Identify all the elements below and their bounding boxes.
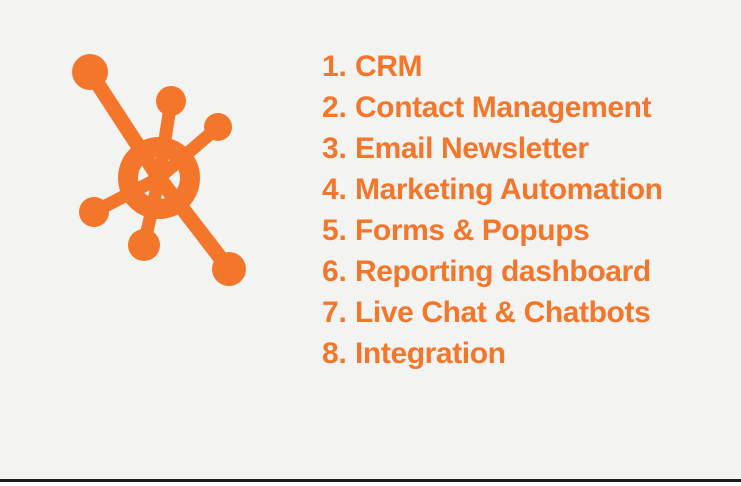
list-item-label: Marketing Automation: [355, 169, 663, 210]
list-item-number: 3.: [322, 128, 355, 169]
list-item-number: 1.: [322, 46, 355, 87]
list-item-label: Contact Management: [355, 87, 651, 128]
list-item: 8. Integration: [322, 333, 722, 374]
list-item-label: CRM: [355, 46, 422, 87]
node-bottom-right: [212, 252, 246, 286]
logo-area: [40, 30, 300, 300]
node-left: [79, 197, 109, 227]
list-item-label: Email Newsletter: [355, 128, 589, 169]
list-item-label: Live Chat & Chatbots: [355, 292, 650, 333]
node-right: [204, 113, 232, 141]
list-item-number: 6.: [322, 251, 355, 292]
hubspot-sprocket-icon: [40, 30, 300, 300]
list-item: 4. Marketing Automation: [322, 169, 722, 210]
list-item: 2. Contact Management: [322, 87, 722, 128]
list-item: 3. Email Newsletter: [322, 128, 722, 169]
slide-canvas: 1. CRM 2. Contact Management 3. Email Ne…: [0, 0, 741, 486]
bottom-white-edge: [0, 482, 741, 486]
list-item-number: 2.: [322, 87, 355, 128]
node-top: [156, 86, 186, 116]
list-item-number: 8.: [322, 333, 355, 374]
node-bottom: [128, 229, 160, 261]
list-item-label: Integration: [355, 333, 506, 374]
list-item: 6. Reporting dashboard: [322, 251, 722, 292]
list-item-number: 5.: [322, 210, 355, 251]
list-item: 1. CRM: [322, 46, 722, 87]
list-item-number: 4.: [322, 169, 355, 210]
list-item-number: 7.: [322, 292, 355, 333]
feature-list: 1. CRM 2. Contact Management 3. Email Ne…: [322, 46, 722, 374]
list-item-label: Reporting dashboard: [355, 251, 651, 292]
list-item: 7. Live Chat & Chatbots: [322, 292, 722, 333]
node-top-left: [72, 54, 108, 90]
list-item: 5. Forms & Popups: [322, 210, 722, 251]
list-item-label: Forms & Popups: [355, 210, 589, 251]
